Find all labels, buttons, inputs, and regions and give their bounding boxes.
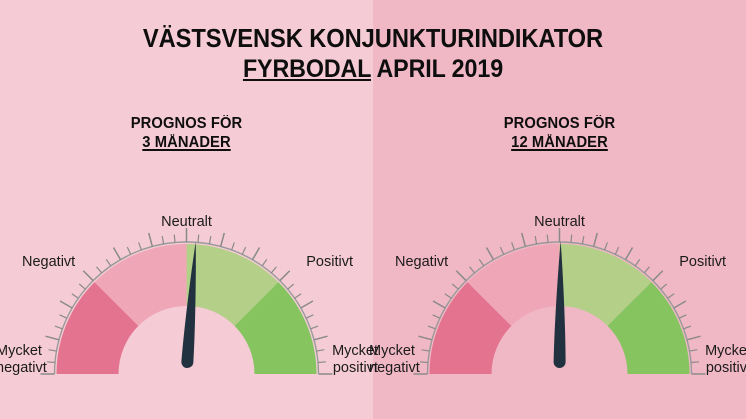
gauge-label-very-negative: Mycket negativt [0, 343, 47, 376]
gauge-3-months: Neutralt Negativt Positivt Mycket negati… [0, 206, 373, 406]
gauge-label-neutral: Neutralt [0, 214, 373, 231]
gauge-graphic [0, 206, 373, 406]
gauge-label-very-positive-line1: Mycket [705, 343, 746, 360]
title-line-1: VÄSTSVENSK KONJUNKTURINDIKATOR [26, 24, 720, 54]
gauge-label-negative: Negativt [395, 254, 448, 271]
subtitle-line-1: PROGNOS FÖR [382, 114, 736, 133]
gauge-label-very-negative-line1: Mycket [369, 343, 420, 360]
gauge-label-very-negative-line2: negativt [0, 360, 47, 377]
title-line-2: FYRBODAL APRIL 2019 [26, 54, 720, 84]
gauge-label-negative: Negativt [22, 254, 75, 271]
gauge-label-positive: Positivt [306, 254, 353, 271]
gauge-label-very-negative-line2: negativt [369, 360, 420, 377]
gauge-label-very-positive-line2: positivt [705, 360, 746, 377]
infographic-canvas: VÄSTSVENSK KONJUNKTURINDIKATOR FYRBODAL … [0, 0, 746, 419]
subtitle-line-2: 3 MÅNADER [9, 133, 363, 152]
column-subtitle-12-months: PROGNOS FÖR 12 MÅNADER [373, 114, 746, 152]
column-subtitle-3-months: PROGNOS FÖR 3 MÅNADER [0, 114, 373, 152]
title-region: FYRBODAL [243, 55, 371, 83]
gauge-label-neutral: Neutralt [373, 214, 746, 231]
gauge-label-very-positive: Mycket positivt [705, 343, 746, 376]
subtitle-line-1: PROGNOS FÖR [9, 114, 363, 133]
title-period: APRIL 2019 [371, 55, 503, 83]
subtitle-line-2: 12 MÅNADER [382, 133, 736, 152]
gauge-label-positive: Positivt [679, 254, 726, 271]
gauge-12-months: Neutralt Negativt Positivt Mycket negati… [373, 206, 746, 406]
gauge-label-very-negative: Mycket negativt [369, 343, 420, 376]
gauge-graphic [373, 206, 746, 406]
page-title: VÄSTSVENSK KONJUNKTURINDIKATOR FYRBODAL … [0, 24, 746, 84]
gauge-label-very-negative-line1: Mycket [0, 343, 47, 360]
